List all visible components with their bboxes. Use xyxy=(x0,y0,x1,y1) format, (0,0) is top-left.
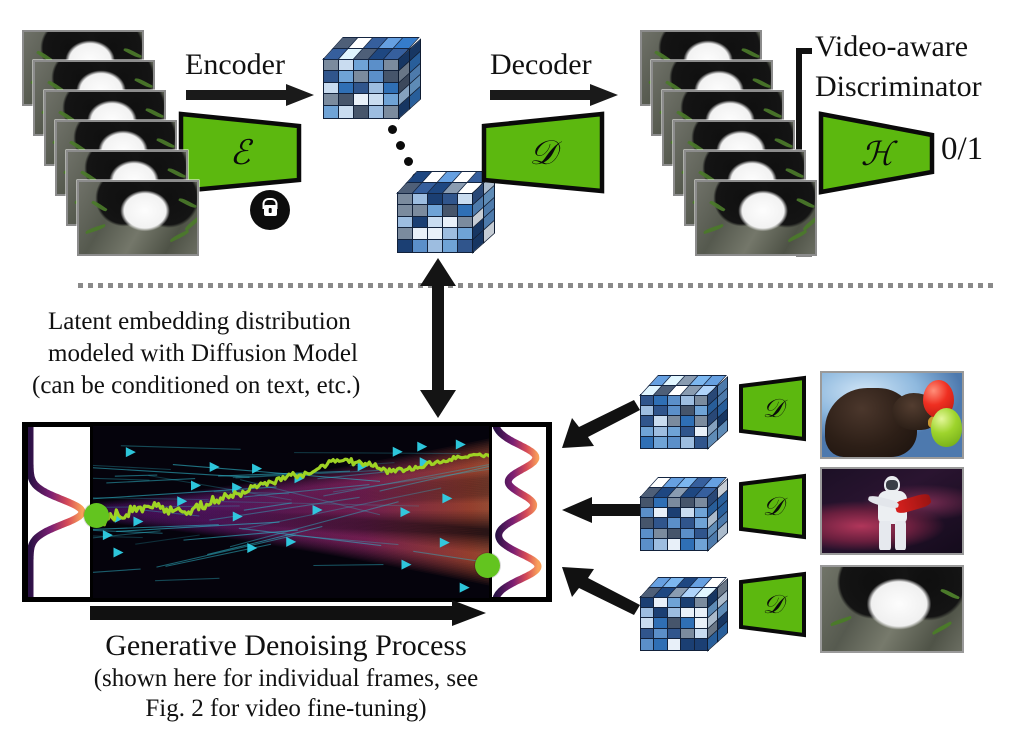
cube-cell xyxy=(654,416,667,427)
cube-cell xyxy=(428,228,443,240)
ellipsis-dot xyxy=(396,141,405,150)
diffusion-caption-line1: Generative Denoising Process xyxy=(0,628,572,663)
input-video-frames xyxy=(22,30,192,265)
cube-cell xyxy=(398,217,413,229)
cube-cell xyxy=(654,497,667,508)
encoder-label: Encoder xyxy=(185,48,285,82)
cube-cell xyxy=(681,395,694,406)
cube-cell xyxy=(654,406,667,417)
cube-cell xyxy=(641,529,654,540)
discriminator-trapezoid: ℋ xyxy=(818,110,936,196)
cube-cell xyxy=(398,228,413,240)
cube-cell xyxy=(398,240,413,252)
cube-cell xyxy=(695,406,708,417)
cube-cell xyxy=(654,518,667,529)
sample-arrow-middle xyxy=(562,497,640,523)
cube-cell xyxy=(384,59,399,71)
cube-cell xyxy=(354,106,369,118)
cube-cell xyxy=(681,539,694,550)
decoder-arrow xyxy=(490,84,618,106)
cube-cell xyxy=(339,94,354,106)
cube-cell xyxy=(695,539,708,550)
cube-cell xyxy=(384,71,399,83)
cube-cell xyxy=(398,205,413,217)
decoder-trapezoid-main: 𝒟 xyxy=(481,110,605,195)
cube-cell xyxy=(443,193,458,205)
cube-cell xyxy=(681,597,694,608)
output-latent-cube-3 xyxy=(641,578,727,650)
cube-cell xyxy=(641,437,654,448)
cube-cell xyxy=(668,618,681,629)
output-latent-cube-2 xyxy=(641,478,727,550)
decoder-glyph: 𝒟 xyxy=(481,110,605,195)
cube-cell xyxy=(443,217,458,229)
cube-cell xyxy=(695,395,708,406)
cube-cell xyxy=(654,539,667,550)
cube-cell xyxy=(641,497,654,508)
cube-cell xyxy=(654,597,667,608)
cube-cell xyxy=(339,71,354,83)
cube-cell xyxy=(443,205,458,217)
cube-cell xyxy=(413,228,428,240)
cube-cell xyxy=(458,193,473,205)
double-headed-vertical-arrow xyxy=(417,258,459,418)
encoder-arrow xyxy=(186,84,314,106)
data-curve xyxy=(492,427,546,597)
cube-cell xyxy=(695,608,708,619)
cube-cell xyxy=(654,395,667,406)
cube-cell xyxy=(458,205,473,217)
cube-cell xyxy=(668,629,681,640)
cube-cell xyxy=(428,217,443,229)
lock-icon xyxy=(250,190,290,230)
cube-front-face xyxy=(641,597,708,650)
cube-cell xyxy=(354,59,369,71)
lock-body xyxy=(264,205,277,216)
cube-cell xyxy=(413,240,428,252)
cube-cell xyxy=(641,539,654,550)
cube-cell xyxy=(641,608,654,619)
cube-cell xyxy=(339,106,354,118)
cube-cell xyxy=(324,59,339,71)
cube-cell xyxy=(695,437,708,448)
cube-cell xyxy=(654,508,667,519)
cube-front-face xyxy=(324,59,399,118)
sample-arrow-bottom xyxy=(562,565,640,607)
cube-cell xyxy=(681,406,694,417)
cube-cell xyxy=(695,597,708,608)
cube-cell xyxy=(428,240,443,252)
cube-cell xyxy=(458,240,473,252)
output-image-astronaut-guitar xyxy=(820,467,964,555)
cube-cell xyxy=(681,518,694,529)
cube-cell xyxy=(668,608,681,619)
cube-cell xyxy=(695,639,708,650)
cube-cell xyxy=(695,508,708,519)
output-latent-cube-1 xyxy=(641,376,727,448)
cube-cell xyxy=(458,228,473,240)
cube-cell xyxy=(681,497,694,508)
latent-cube-encoded xyxy=(324,38,420,118)
cube-cell xyxy=(668,508,681,519)
sample-arrow-top xyxy=(562,408,640,450)
ellipsis-dot xyxy=(404,157,413,166)
cube-cell xyxy=(654,629,667,640)
cube-cell xyxy=(369,94,384,106)
diffusion-caption-line2: (shown here for individual frames, see xyxy=(0,664,572,694)
ellipsis-dot xyxy=(388,125,397,134)
cube-cell xyxy=(668,539,681,550)
cube-cell xyxy=(668,529,681,540)
discriminator-glyph: ℋ xyxy=(818,110,936,196)
cube-cell xyxy=(384,83,399,95)
prior-curve xyxy=(28,427,90,597)
cube-cell xyxy=(695,416,708,427)
output-decoder-trapezoid-1: 𝒟 xyxy=(738,376,808,442)
trajectory-start-marker xyxy=(84,503,109,528)
cube-cell xyxy=(384,106,399,118)
cube-cell xyxy=(681,427,694,438)
cube-cell xyxy=(384,94,399,106)
output-decoder-trapezoid-3: 𝒟 xyxy=(738,572,808,638)
section-divider xyxy=(78,283,996,288)
cube-cell xyxy=(695,629,708,640)
distribution-curve xyxy=(496,427,538,597)
output-decoder-glyph-1: 𝒟 xyxy=(738,376,808,442)
cube-cell xyxy=(641,618,654,629)
distribution-curve xyxy=(30,427,82,597)
lock-keyhole xyxy=(269,208,272,213)
denoising-direction-arrow xyxy=(90,600,486,628)
cube-cell xyxy=(458,217,473,229)
cube-cell xyxy=(681,618,694,629)
cube-front-face xyxy=(641,497,708,550)
trajectory-end-marker xyxy=(475,553,500,578)
cube-cell xyxy=(641,395,654,406)
output-image-bear-balloons xyxy=(820,371,964,459)
output-decoder-glyph-3: 𝒟 xyxy=(738,572,808,638)
cube-cell xyxy=(695,618,708,629)
prior-distribution-panel xyxy=(25,424,93,600)
cube-cell xyxy=(681,508,694,519)
cube-cell xyxy=(681,639,694,650)
output-decoder-trapezoid-2: 𝒟 xyxy=(738,474,808,540)
cube-cell xyxy=(695,518,708,529)
data-distribution-panel xyxy=(489,424,549,600)
cube-cell xyxy=(668,395,681,406)
cube-cell xyxy=(641,597,654,608)
cube-front-face xyxy=(641,395,708,448)
cube-cell xyxy=(681,416,694,427)
output-decoder-glyph-2: 𝒟 xyxy=(738,474,808,540)
discriminator-label-line2: Discriminator xyxy=(815,70,982,104)
cube-cell xyxy=(681,437,694,448)
cube-cell xyxy=(668,639,681,650)
diffusion-caption-line3: Fig. 2 for video fine-tuning) xyxy=(0,694,572,724)
cube-cell xyxy=(398,193,413,205)
cube-cell xyxy=(641,427,654,438)
cube-cell xyxy=(668,497,681,508)
cube-cell xyxy=(654,437,667,448)
cube-cell xyxy=(654,639,667,650)
decoder-label: Decoder xyxy=(490,48,592,82)
cube-cell xyxy=(324,94,339,106)
cube-cell xyxy=(641,629,654,640)
video-frame xyxy=(77,180,199,256)
cube-cell xyxy=(641,416,654,427)
cube-cell xyxy=(681,608,694,619)
cube-cell xyxy=(443,240,458,252)
cube-cell xyxy=(443,228,458,240)
latent-description-line1: Latent embedding distribution xyxy=(48,308,351,336)
cube-cell xyxy=(641,518,654,529)
video-frame xyxy=(695,180,817,256)
cube-cell xyxy=(681,629,694,640)
latent-description-line2: modeled with Diffusion Model xyxy=(48,340,358,368)
cube-cell xyxy=(369,83,384,95)
cube-cell xyxy=(339,59,354,71)
cube-cell xyxy=(428,205,443,217)
discriminator-output: 0/1 xyxy=(941,131,983,168)
output-image-panda xyxy=(820,565,964,653)
cube-cell xyxy=(369,59,384,71)
cube-cell xyxy=(641,508,654,519)
cube-cell xyxy=(695,427,708,438)
cube-cell xyxy=(339,83,354,95)
cube-front-face xyxy=(398,193,473,252)
cube-cell xyxy=(668,406,681,417)
cube-cell xyxy=(324,83,339,95)
cube-cell xyxy=(641,639,654,650)
cube-cell xyxy=(668,597,681,608)
cube-cell xyxy=(413,217,428,229)
cube-cell xyxy=(668,518,681,529)
cube-cell xyxy=(354,94,369,106)
cube-cell xyxy=(695,497,708,508)
cube-cell xyxy=(324,71,339,83)
cube-cell xyxy=(654,427,667,438)
cube-cell xyxy=(668,437,681,448)
cube-cell xyxy=(354,71,369,83)
cube-cell xyxy=(654,608,667,619)
cube-cell xyxy=(369,71,384,83)
cube-cell xyxy=(654,529,667,540)
cube-cell xyxy=(354,83,369,95)
cube-cell xyxy=(369,106,384,118)
cube-cell xyxy=(668,416,681,427)
cube-cell xyxy=(641,406,654,417)
cube-cell xyxy=(681,529,694,540)
reconstructed-video-frames xyxy=(640,30,810,265)
cube-cell xyxy=(695,529,708,540)
cube-cell xyxy=(428,193,443,205)
cube-cell xyxy=(668,427,681,438)
cube-cell xyxy=(654,618,667,629)
latent-cube-denoised xyxy=(398,172,494,252)
discriminator-label-line1: Video-aware xyxy=(815,30,968,64)
cube-cell xyxy=(413,205,428,217)
cube-cell xyxy=(324,106,339,118)
cube-cell xyxy=(413,193,428,205)
latent-description-line3: (can be conditioned on text, etc.) xyxy=(32,372,360,400)
